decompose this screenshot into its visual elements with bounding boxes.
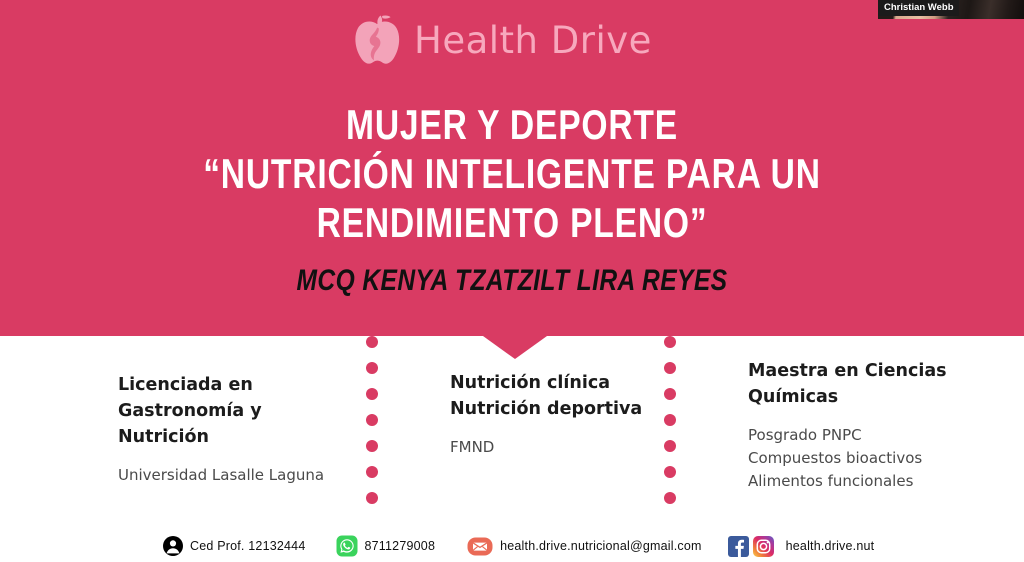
divider-dot xyxy=(366,414,378,426)
credential-column-1: Licenciada en Gastronomía y Nutrición Un… xyxy=(118,372,358,487)
whatsapp-number: 8711279008 xyxy=(365,539,436,553)
slide-title: MUJER Y DEPORTE “NUTRICIÓN INTELIGENTE P… xyxy=(0,100,1024,247)
license-text: Ced Prof. 12132444 xyxy=(190,539,306,553)
participant-name-label: Christian Webb xyxy=(878,0,959,16)
credential-detail: Posgrado PNPC Compuestos bioactivos Alim… xyxy=(748,424,988,493)
brand-logo: Health Drive xyxy=(352,14,652,66)
brand-name: Health Drive xyxy=(414,19,652,62)
divider-dot xyxy=(664,414,676,426)
divider-dot xyxy=(366,466,378,478)
social-handle: health.drive.nut xyxy=(786,539,875,553)
contact-footer: Ced Prof. 12132444 8711279008 health.dri… xyxy=(0,530,1024,562)
facebook-icon[interactable] xyxy=(728,536,749,557)
instagram-icon[interactable] xyxy=(753,536,774,557)
credential-column-3: Maestra en Ciencias Químicas Posgrado PN… xyxy=(748,358,988,493)
divider-dot xyxy=(664,336,676,348)
divider-dot xyxy=(664,388,676,400)
presentation-slide: Health Drive MUJER Y DEPORTE “NUTRICIÓN … xyxy=(0,0,1024,562)
professional-license: Ced Prof. 12132444 xyxy=(163,536,306,556)
apple-icon xyxy=(352,14,402,66)
email-contact[interactable]: health.drive.nutricional@gmail.com xyxy=(467,537,702,556)
credential-detail: FMND xyxy=(450,436,650,459)
divider-dot xyxy=(664,466,676,478)
dotted-divider-right xyxy=(664,336,676,504)
title-line-2: “NUTRICIÓN INTELIGENTE PARA UN xyxy=(102,149,921,198)
divider-dot xyxy=(664,362,676,374)
divider-dot xyxy=(366,336,378,348)
credential-column-2: Nutrición clínica Nutrición deportiva FM… xyxy=(450,370,650,459)
banner-notch xyxy=(483,336,547,359)
presenter-name: MCQ KENYA TZATZILT LIRA REYES xyxy=(92,264,932,298)
divider-dot xyxy=(366,440,378,452)
credential-heading: Licenciada en Gastronomía y Nutrición xyxy=(118,372,358,450)
divider-dot xyxy=(366,388,378,400)
credential-heading: Nutrición clínica Nutrición deportiva xyxy=(450,370,650,422)
divider-dot xyxy=(664,492,676,504)
credential-heading: Maestra en Ciencias Químicas xyxy=(748,358,988,410)
whatsapp-contact[interactable]: 8711279008 xyxy=(336,535,436,557)
title-line-3: RENDIMIENTO PLENO” xyxy=(102,198,921,247)
person-icon xyxy=(163,536,183,556)
whatsapp-icon[interactable] xyxy=(336,535,358,557)
title-line-1: MUJER Y DEPORTE xyxy=(102,100,921,149)
divider-dot xyxy=(366,362,378,374)
divider-dot xyxy=(366,492,378,504)
credential-detail: Universidad Lasalle Laguna xyxy=(118,464,358,487)
email-address: health.drive.nutricional@gmail.com xyxy=(500,539,702,553)
social-contact[interactable]: health.drive.nut xyxy=(728,536,875,557)
participant-video-tile[interactable]: Christian Webb xyxy=(878,0,1024,19)
divider-dot xyxy=(664,440,676,452)
dotted-divider-left xyxy=(366,336,378,504)
envelope-icon[interactable] xyxy=(467,537,493,556)
